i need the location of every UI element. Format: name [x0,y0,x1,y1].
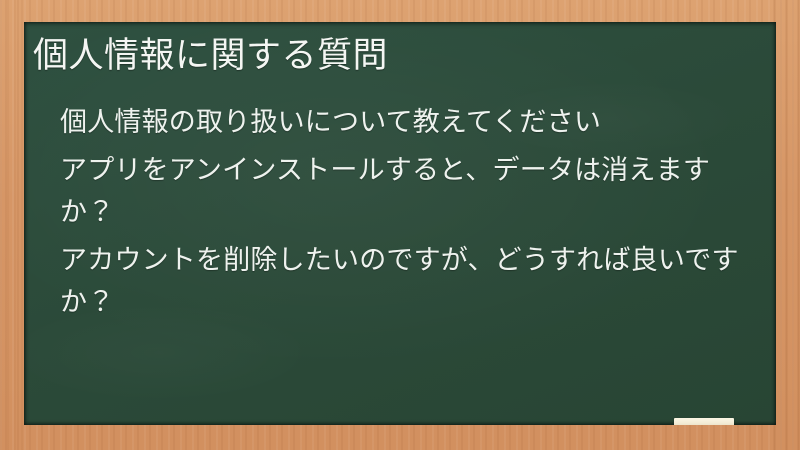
frame-wood-grain-left [0,0,26,450]
chalkboard-surface: 個人情報に関する質問 個人情報の取り扱いについて教えてください アプリをアンイン… [24,22,776,425]
frame-wood-grain-right [774,0,800,450]
chalkboard-slide: 個人情報に関する質問 個人情報の取り扱いについて教えてください アプリをアンイン… [0,0,800,450]
question-item: アカウントを削除したいのですが、どうすれば良いですか？ [60,240,750,324]
chalk-stick-icon [674,418,734,425]
question-item: アプリをアンインストールすると、データは消えますか？ [60,150,750,234]
slide-title: 個人情報に関する質問 [33,34,753,78]
question-list: 個人情報の取り扱いについて教えてください アプリをアンインストールすると、データ… [60,102,750,330]
question-item: 個人情報の取り扱いについて教えてください [60,102,750,144]
